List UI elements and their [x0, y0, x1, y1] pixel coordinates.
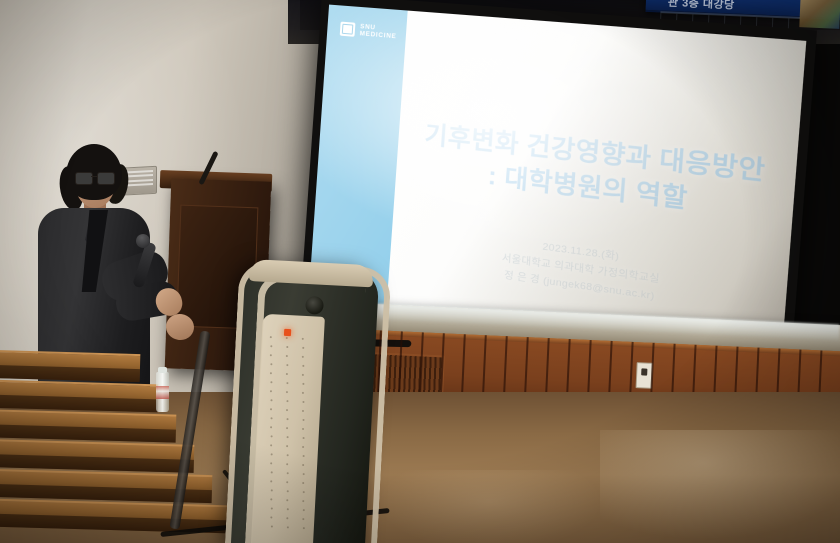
- floor-reflection: [600, 430, 840, 540]
- stage-stairs: [0, 352, 240, 543]
- bottle-cap: [158, 367, 167, 373]
- water-bottle: [156, 372, 169, 412]
- foreground-lectern: [229, 265, 380, 543]
- wall-monitor: [799, 0, 840, 29]
- bottle-label: [156, 386, 169, 399]
- lecture-hall-photo: 관 3층 대강당 SNU MEDICINE 기후변화 건강영향과 대응방안 : …: [0, 0, 840, 543]
- eyeglasses-icon: [75, 172, 117, 183]
- hall-sign-label: 관 3층 대강당: [668, 0, 735, 13]
- lectern-inner-edge: [244, 273, 366, 543]
- floor-reflection-2: [380, 470, 600, 543]
- logo-text: SNU MEDICINE: [359, 23, 397, 41]
- snu-emblem-icon: [340, 22, 356, 37]
- slide-title: 기후변화 건강영향과 대응방안 : 대학병원의 역할: [395, 116, 797, 229]
